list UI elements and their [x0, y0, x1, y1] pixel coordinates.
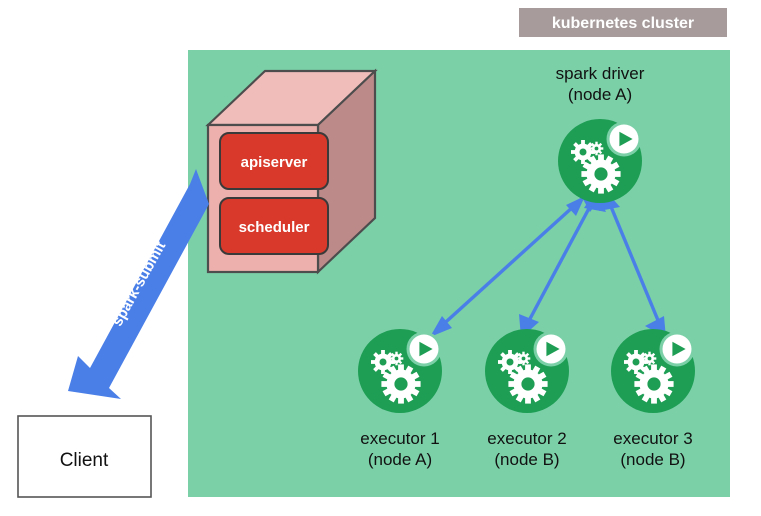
control-plane-cube: apiserver scheduler — [208, 71, 375, 272]
client-box[interactable]: Client — [18, 416, 151, 497]
executor-2-subtitle: (node B) — [494, 450, 559, 469]
spark-driver-node[interactable]: spark driver (node A) — [556, 64, 645, 203]
executor-3-subtitle: (node B) — [620, 450, 685, 469]
spark-driver-title: spark driver — [556, 64, 645, 83]
component-apiserver-label: apiserver — [241, 154, 308, 171]
client-label: Client — [60, 450, 109, 471]
cluster-badge: kubernetes cluster — [519, 8, 727, 37]
architecture-diagram: kubernetes cluster apiserver scheduler — [0, 0, 761, 516]
component-scheduler-label: scheduler — [239, 219, 310, 236]
component-apiserver[interactable]: apiserver — [220, 133, 328, 189]
executor-2-title: executor 2 — [487, 429, 566, 448]
executor-1-title: executor 1 — [360, 429, 439, 448]
cluster-badge-label: kubernetes cluster — [552, 15, 694, 32]
component-scheduler[interactable]: scheduler — [220, 198, 328, 254]
executor-3-title: executor 3 — [613, 429, 692, 448]
spark-driver-subtitle: (node A) — [568, 85, 632, 104]
executor-1-subtitle: (node A) — [368, 450, 432, 469]
